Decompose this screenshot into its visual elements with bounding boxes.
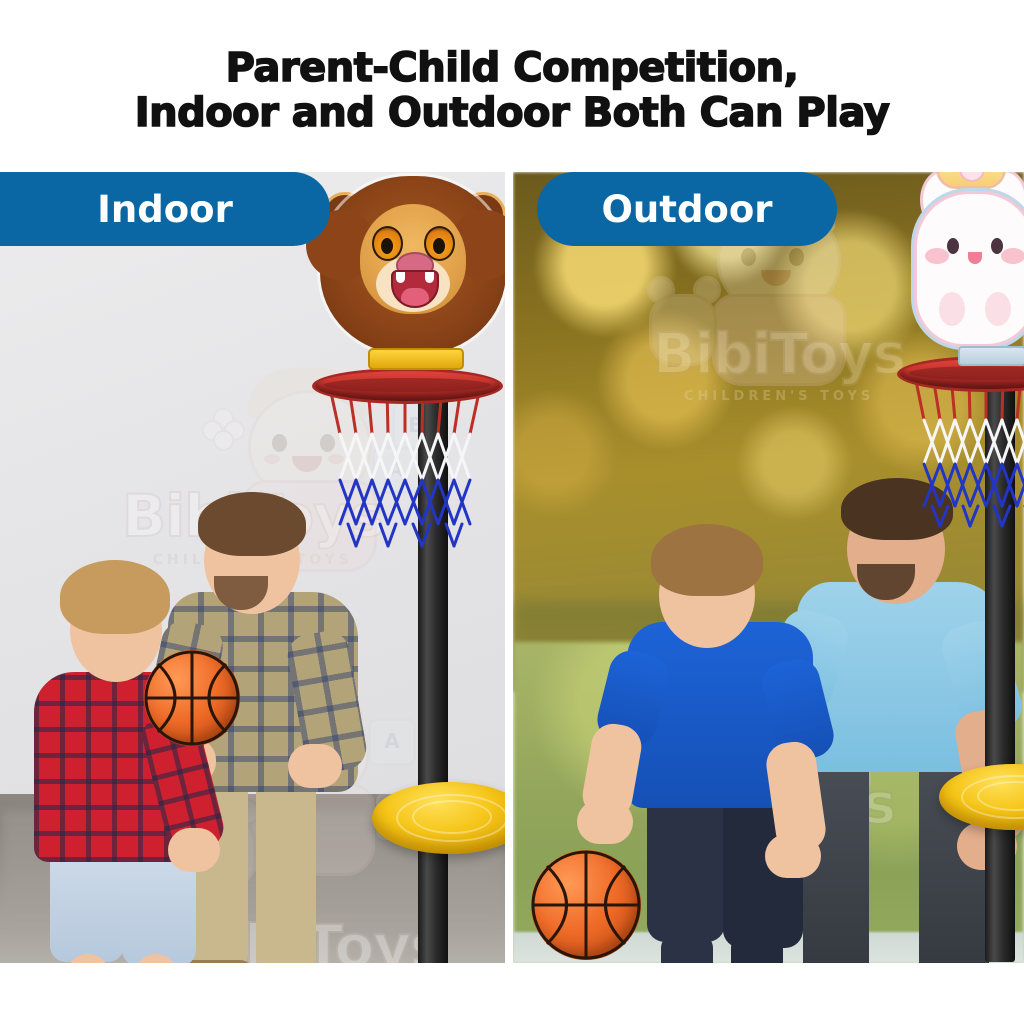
lion-pupil-right bbox=[433, 238, 445, 254]
net-mesh-icon bbox=[326, 388, 484, 548]
child-hand-left bbox=[577, 800, 633, 844]
panel-outdoor: BibiToys CHILDREN'S TOYS A BibiToys CHIL… bbox=[513, 172, 1024, 963]
hoop-net bbox=[326, 388, 484, 548]
basketball-stand-indoor bbox=[300, 172, 505, 872]
bunny-paw-right bbox=[985, 292, 1011, 326]
basketball-stand-outdoor bbox=[883, 172, 1024, 872]
lion-tooth-left bbox=[396, 272, 405, 283]
child-leg-left bbox=[661, 934, 713, 963]
comparison-panels: BibiToys CHILDREN'S TOYS A B BibiToys CH… bbox=[0, 172, 1024, 963]
backboard-mount-bar bbox=[958, 346, 1024, 366]
stand-base bbox=[939, 764, 1024, 830]
headline-line-2: Indoor and Outdoor Both Can Play bbox=[0, 91, 1024, 136]
child-figure-indoor bbox=[4, 542, 234, 963]
lion-face bbox=[360, 204, 466, 314]
backboard-lion-icon bbox=[314, 172, 505, 370]
page-title: Parent-Child Competition, Indoor and Out… bbox=[0, 46, 1024, 136]
basketball-seams-icon bbox=[144, 650, 240, 746]
badge-indoor-label: Indoor bbox=[97, 188, 233, 231]
hoop-rim bbox=[312, 368, 503, 404]
hoop-rim-inner bbox=[909, 366, 1024, 380]
backboard-bunny-icon bbox=[905, 172, 1024, 366]
child-hand-right bbox=[765, 834, 821, 878]
bunny-body bbox=[917, 194, 1024, 344]
child-leg-right bbox=[731, 934, 783, 963]
net-mesh-icon bbox=[911, 376, 1024, 528]
badge-indoor[interactable]: Indoor bbox=[0, 172, 330, 246]
bunny-flower bbox=[939, 172, 1003, 186]
child-hair bbox=[651, 524, 763, 596]
bunny-flower-core bbox=[961, 172, 983, 180]
hoop-net bbox=[911, 376, 1024, 528]
hoop-rim-inner bbox=[324, 378, 491, 392]
child-hair bbox=[60, 560, 170, 634]
lion-tongue bbox=[401, 288, 429, 306]
lion-pupil-left bbox=[381, 238, 393, 254]
bunny-cheek-left bbox=[925, 248, 949, 264]
headline-line-1: Parent-Child Competition, bbox=[226, 45, 799, 91]
stand-base bbox=[372, 782, 505, 854]
child-shorts-left bbox=[647, 792, 725, 942]
backboard-mount-bar bbox=[368, 348, 464, 370]
child-hand-right bbox=[168, 828, 220, 872]
basketball-outdoor bbox=[531, 850, 641, 960]
badge-outdoor-label: Outdoor bbox=[601, 188, 772, 231]
bunny-mouth bbox=[968, 252, 982, 264]
badge-outdoor[interactable]: Outdoor bbox=[537, 172, 837, 246]
bunny-eye-left bbox=[947, 238, 959, 254]
base-ring-inner bbox=[412, 800, 492, 834]
lion-eye-left bbox=[372, 226, 403, 261]
basketball-seams-icon bbox=[531, 850, 641, 960]
bunny-cheek-right bbox=[1001, 248, 1024, 264]
bunny-paw-left bbox=[939, 292, 965, 326]
lion-tooth-right bbox=[425, 272, 434, 283]
panel-indoor: BibiToys CHILDREN'S TOYS A B BibiToys CH… bbox=[0, 172, 505, 963]
basketball-indoor bbox=[144, 650, 240, 746]
